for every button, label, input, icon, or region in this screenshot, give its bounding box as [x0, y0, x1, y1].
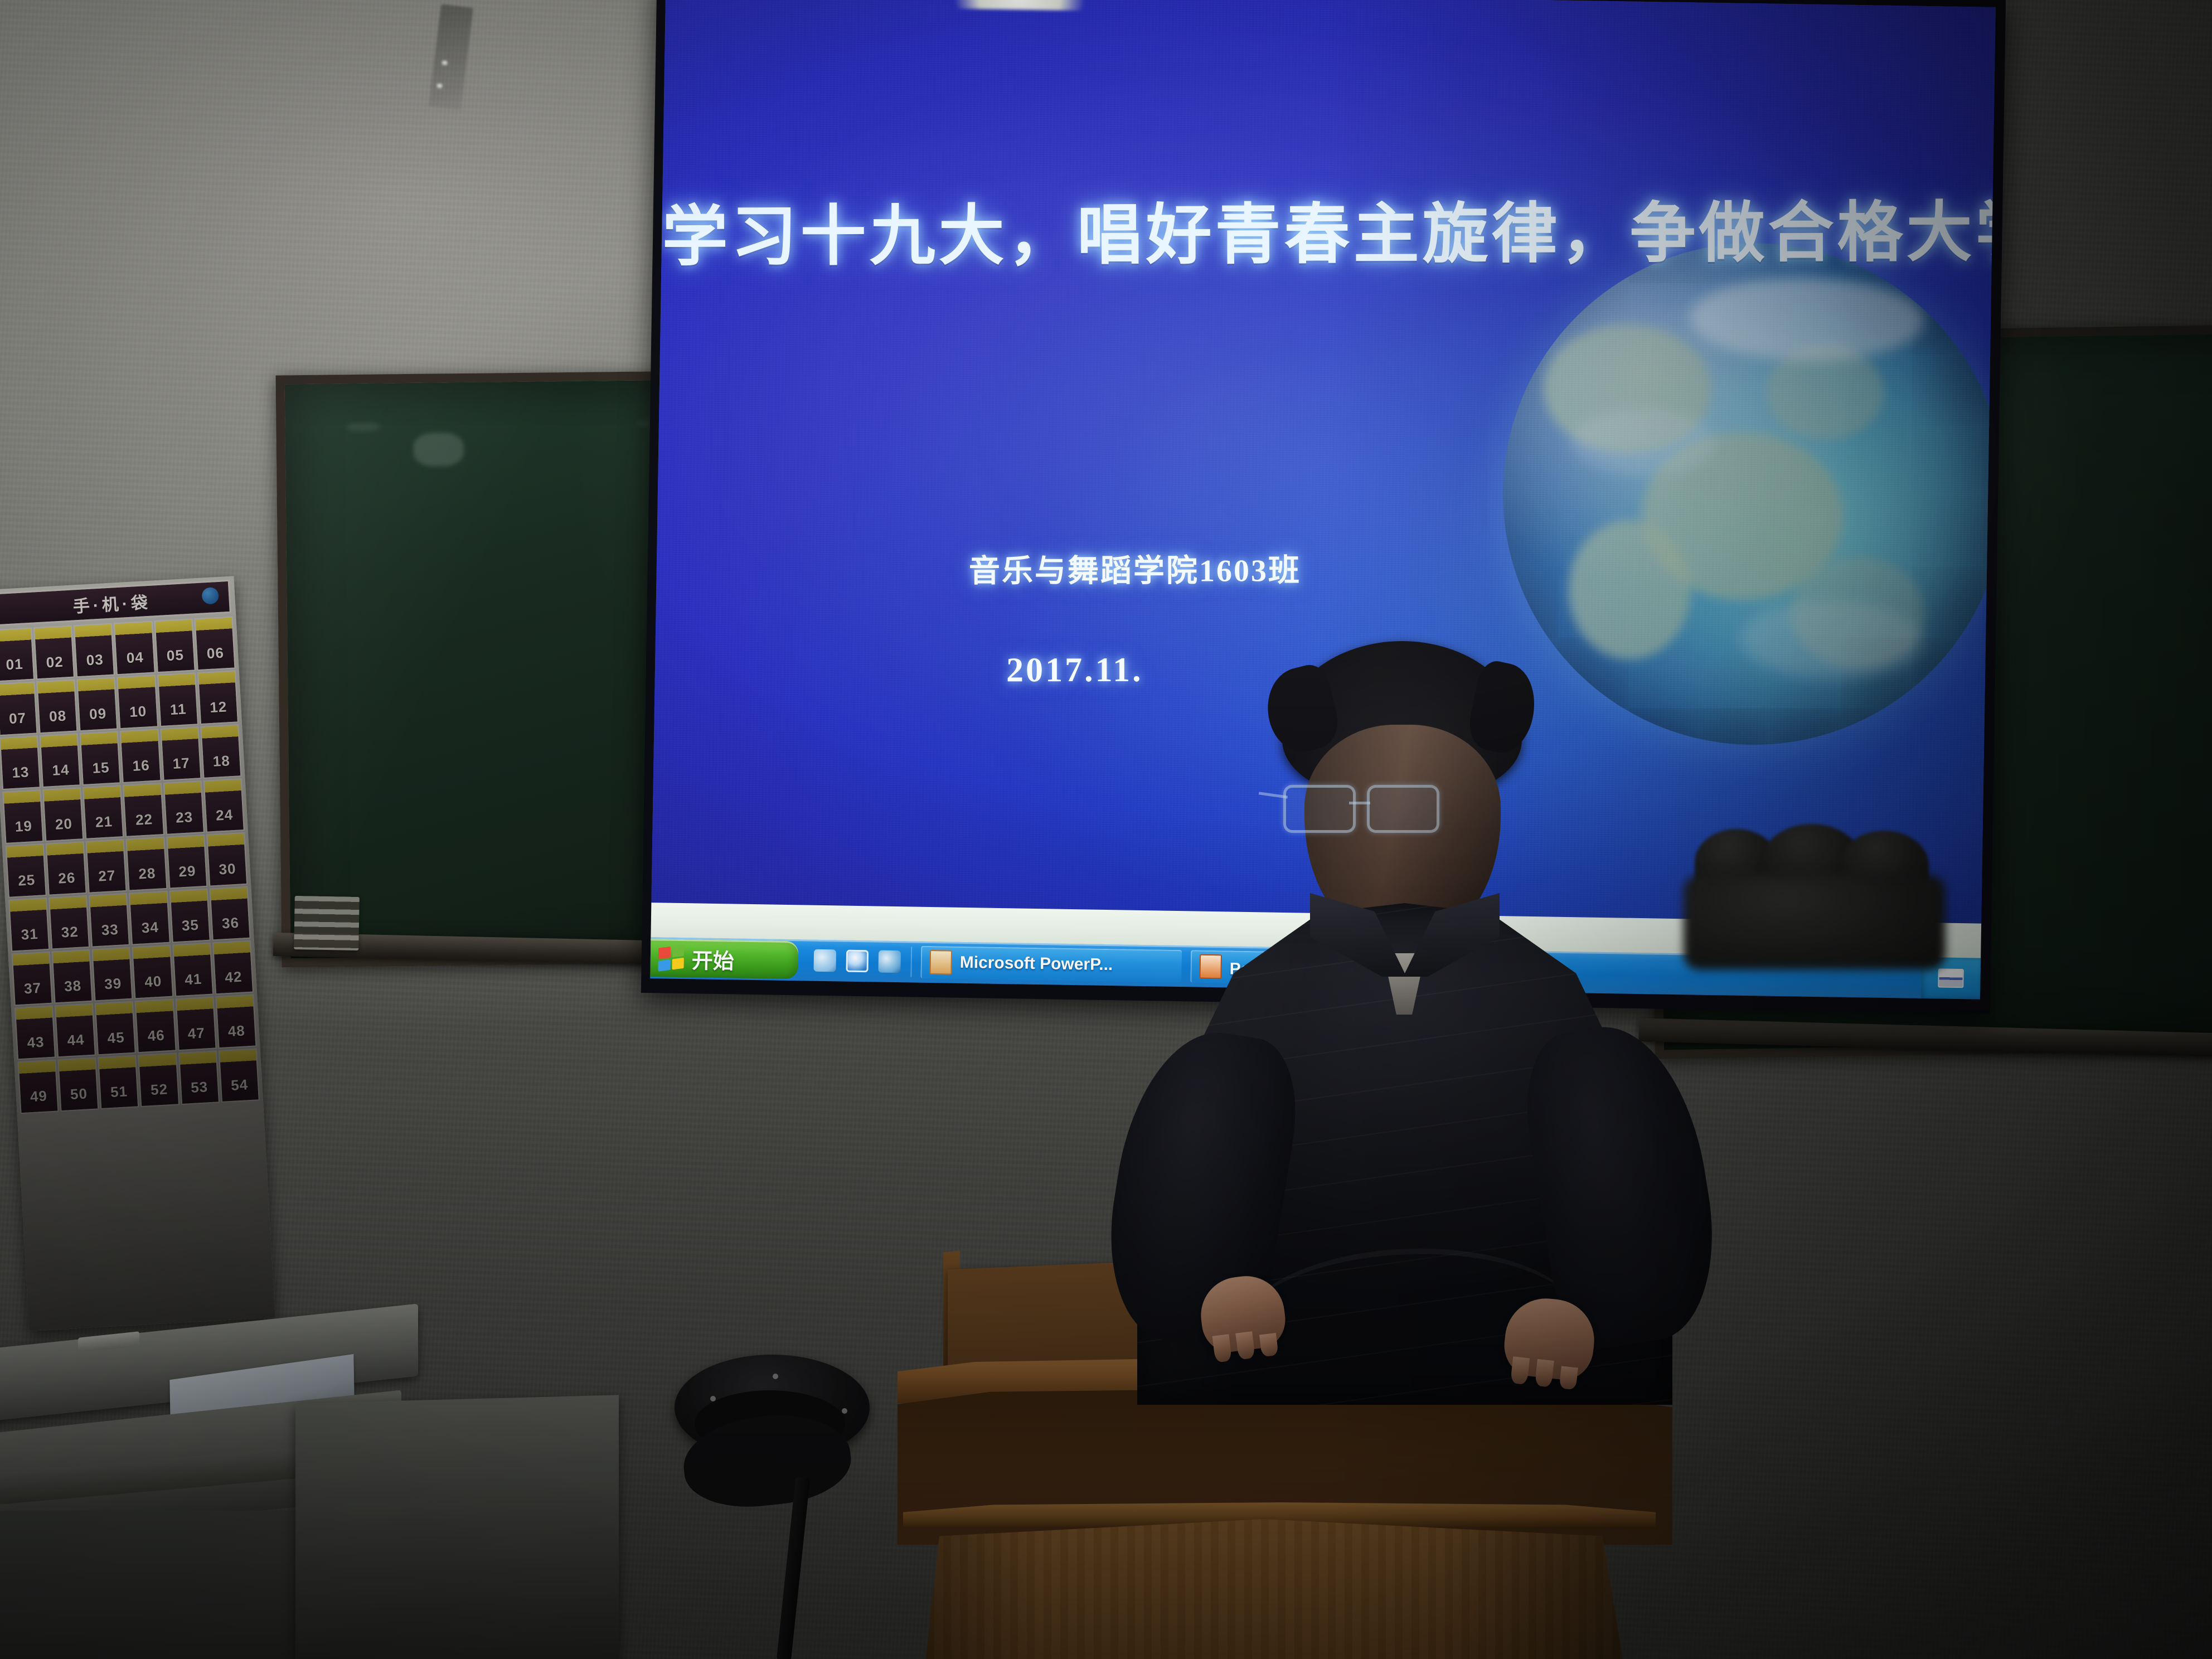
- organizer-pocket-number: 17: [172, 754, 191, 773]
- organizer-pocket[interactable]: 26: [46, 841, 87, 896]
- organizer-pocket[interactable]: 14: [40, 733, 81, 788]
- organizer-pocket[interactable]: 04: [114, 621, 155, 676]
- organizer-pocket[interactable]: 30: [206, 832, 248, 887]
- organizer-pocket-number: 09: [89, 705, 107, 723]
- organizer-pocket[interactable]: 29: [166, 835, 207, 889]
- floor-shadow: [0, 913, 2212, 1659]
- organizer-pocket[interactable]: 13: [0, 735, 41, 790]
- organizer-pocket[interactable]: 17: [160, 726, 201, 781]
- slide-date: 2017.11.: [1006, 651, 1143, 690]
- organizer-pocket-number: 26: [58, 869, 76, 887]
- organizer-title: 手·机·袋: [72, 589, 152, 618]
- organizer-pocket-number: 21: [95, 813, 113, 831]
- organizer-pocket-number: 19: [14, 817, 33, 836]
- organizer-pocket[interactable]: 21: [83, 785, 124, 840]
- organizer-pocket[interactable]: 11: [157, 672, 198, 727]
- organizer-pocket[interactable]: 28: [126, 837, 167, 891]
- organizer-pocket-number: 25: [17, 871, 36, 890]
- organizer-pocket-number: 13: [12, 763, 30, 782]
- organizer-pocket[interactable]: 03: [74, 623, 115, 678]
- organizer-pocket[interactable]: 12: [197, 670, 239, 725]
- organizer-pocket-number: 03: [86, 651, 104, 670]
- organizer-blue-dot-icon: [201, 587, 219, 605]
- organizer-pocket[interactable]: 10: [117, 675, 158, 729]
- organizer-pocket[interactable]: 25: [6, 843, 47, 898]
- organizer-pocket[interactable]: 15: [80, 731, 121, 785]
- chalk-smudge: [346, 423, 380, 432]
- organizer-pocket-number: 24: [215, 806, 234, 824]
- organizer-pocket[interactable]: 07: [0, 682, 38, 736]
- organizer-pocket[interactable]: 22: [123, 783, 164, 837]
- organizer-pocket[interactable]: 20: [42, 787, 84, 842]
- organizer-pocket-number: 04: [126, 649, 144, 667]
- organizer-pocket-number: 23: [175, 808, 193, 827]
- organizer-pocket-number: 15: [92, 759, 110, 777]
- organizer-pocket-number: 30: [219, 860, 237, 879]
- organizer-pocket[interactable]: 05: [154, 619, 195, 673]
- organizer-pocket-number: 11: [169, 700, 187, 719]
- organizer-pocket-number: 27: [98, 867, 117, 885]
- organizer-pocket[interactable]: 16: [120, 729, 161, 783]
- organizer-pocket-number: 06: [206, 644, 225, 663]
- organizer-pocket-number: 07: [8, 710, 27, 728]
- organizer-pocket[interactable]: 06: [194, 617, 235, 671]
- organizer-pocket[interactable]: 02: [33, 625, 75, 680]
- slide-subtitle: 音乐与舞蹈学院1603班: [969, 545, 1301, 591]
- organizer-pocket-number: 10: [129, 702, 147, 721]
- organizer-pocket[interactable]: 27: [86, 839, 127, 894]
- organizer-pocket-number: 22: [135, 811, 153, 829]
- organizer-pocket-number: 16: [132, 756, 151, 775]
- organizer-pocket-number: 18: [212, 752, 231, 770]
- classroom-photo: 学习十九大，唱好青春主旋律，争做合格大学生 音乐与舞蹈学院1603班 2017.…: [0, 0, 2212, 1659]
- organizer-pocket[interactable]: 01: [0, 628, 35, 682]
- organizer-pocket[interactable]: 08: [36, 680, 77, 734]
- organizer-pocket-number: 29: [178, 862, 197, 881]
- organizer-pocket-number: 12: [210, 698, 228, 716]
- chalk-smudge: [414, 433, 464, 467]
- organizer-pocket-number: 14: [52, 761, 70, 779]
- organizer-pocket[interactable]: 24: [203, 778, 245, 833]
- organizer-pocket-number: 20: [55, 815, 73, 833]
- organizer-pocket[interactable]: 09: [77, 677, 118, 731]
- organizer-pocket-number: 08: [48, 707, 67, 726]
- organizer-pocket-number: 02: [46, 653, 64, 672]
- organizer-pocket-number: 28: [138, 865, 157, 883]
- organizer-pocket[interactable]: 19: [2, 789, 43, 844]
- organizer-pocket[interactable]: 18: [200, 724, 241, 779]
- organizer-pocket-number: 01: [6, 656, 24, 674]
- organizer-pocket-number: 05: [166, 647, 185, 665]
- organizer-pocket[interactable]: 23: [163, 780, 204, 835]
